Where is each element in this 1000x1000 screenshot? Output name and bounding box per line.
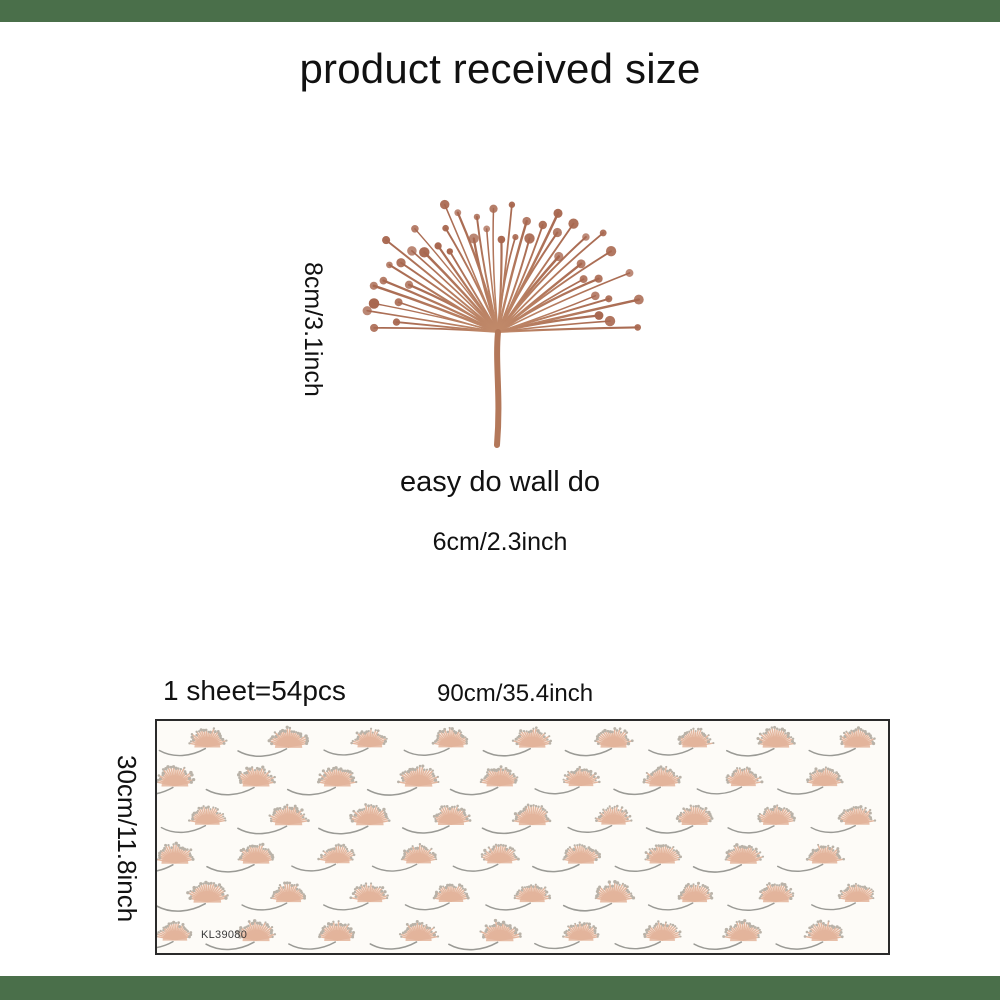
product-size-infographic: product received size 8cm/3.1inch easy d…	[0, 0, 1000, 1000]
dandelion-flower-decal	[358, 160, 658, 450]
flower-height-label: 8cm/3.1inch	[298, 262, 327, 397]
flower-caption: easy do wall do	[0, 466, 1000, 499]
sticker-grid	[157, 721, 888, 953]
top-green-band	[0, 0, 1000, 22]
page-title: product received size	[0, 45, 1000, 93]
bottom-green-band	[0, 976, 1000, 1000]
sheet-height-label: 30cm/11.8inch	[111, 755, 142, 922]
sheet-width-label: 90cm/35.4inch	[437, 680, 593, 708]
sticker-sheet: KL39080	[155, 719, 890, 955]
flower-width-label: 6cm/2.3inch	[0, 528, 1000, 557]
sheet-count-label: 1 sheet=54pcs	[163, 675, 346, 707]
sheet-product-code: KL39080	[201, 929, 247, 941]
